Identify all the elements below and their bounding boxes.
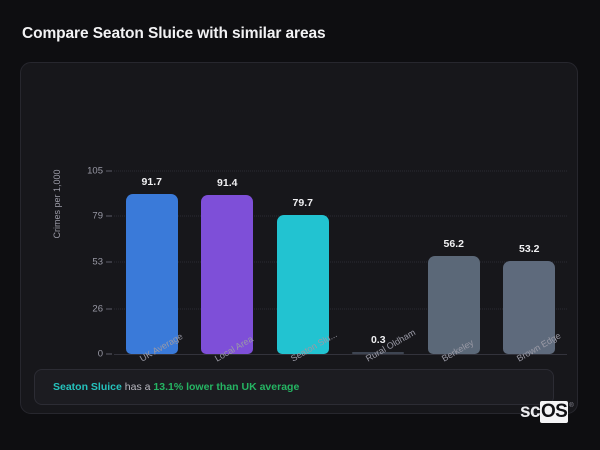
bar-column[interactable]: 91.7 bbox=[126, 63, 178, 354]
bar-value-label: 91.7 bbox=[126, 176, 178, 188]
comparison-note: Seaton Sluice has a 13.1% lower than UK … bbox=[34, 369, 554, 405]
registered-trademark-icon: ® bbox=[569, 403, 573, 409]
y-axis-tick-label: 26 bbox=[69, 303, 103, 314]
bar-column[interactable]: 91.4 bbox=[201, 63, 253, 354]
bar-value-label: 56.2 bbox=[428, 238, 480, 250]
y-axis-tick-mark bbox=[106, 261, 112, 262]
note-comparison-value: 13.1% lower than UK average bbox=[153, 381, 299, 393]
bar-value-label: 79.7 bbox=[277, 197, 329, 209]
note-area-name: Seaton Sluice bbox=[53, 381, 122, 393]
y-axis-tick-label: 53 bbox=[69, 256, 103, 267]
bar-column[interactable]: 53.2 bbox=[503, 63, 555, 354]
y-axis-tick-mark bbox=[106, 171, 112, 172]
y-axis-tick-label: 0 bbox=[69, 349, 103, 360]
page-title: Compare Seaton Sluice with similar areas bbox=[22, 25, 326, 43]
note-middle-text: has a bbox=[122, 381, 154, 393]
bar-column[interactable]: 0.3 bbox=[352, 63, 404, 354]
bar-chart: Crimes per 1,000 0265379105 91.791.479.7… bbox=[21, 63, 579, 353]
logo-mark: OS bbox=[540, 401, 568, 423]
y-axis-tick-mark bbox=[106, 354, 112, 355]
bar-column[interactable]: 56.2 bbox=[428, 63, 480, 354]
bar[interactable] bbox=[277, 215, 329, 354]
bar-value-label: 53.2 bbox=[503, 243, 555, 255]
y-axis-tick-label: 79 bbox=[69, 211, 103, 222]
chart-card: Crimes per 1,000 0265379105 91.791.479.7… bbox=[20, 62, 578, 414]
comparison-note-text: Seaton Sluice has a 13.1% lower than UK … bbox=[35, 381, 299, 393]
bar[interactable] bbox=[126, 194, 178, 354]
y-axis-tick-label: 105 bbox=[69, 166, 103, 177]
bar-column[interactable]: 79.7 bbox=[277, 63, 329, 354]
bars-group: 91.791.479.70.356.253.2 bbox=[114, 63, 567, 353]
bar[interactable] bbox=[201, 195, 253, 354]
scos-logo: scOS® bbox=[520, 401, 573, 423]
y-axis-tick-mark bbox=[106, 308, 112, 309]
y-axis-tick-mark bbox=[106, 216, 112, 217]
bar-value-label: 91.4 bbox=[201, 177, 253, 189]
logo-prefix: sc bbox=[520, 401, 540, 423]
